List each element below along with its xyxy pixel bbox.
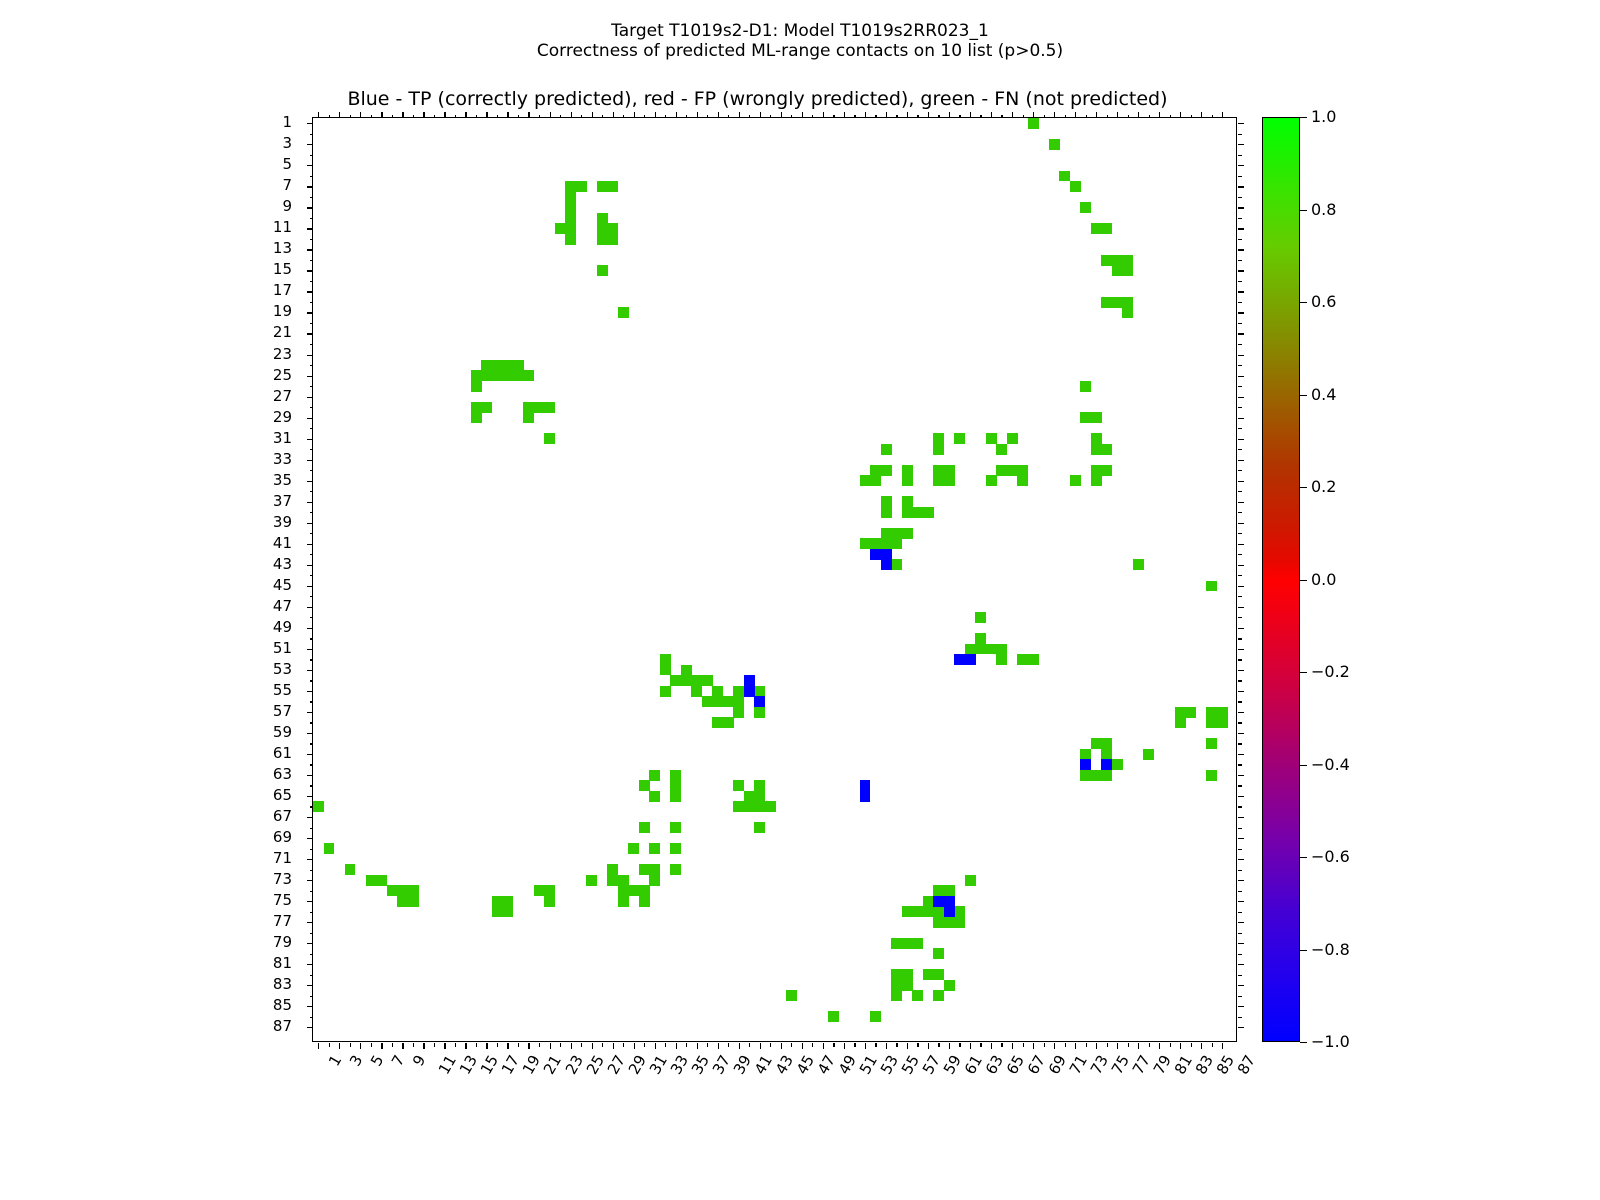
x-tick-top <box>592 112 593 118</box>
x-axis-tick-label: 43 <box>773 1053 796 1077</box>
y-tick <box>310 996 314 997</box>
contact-cell-fn <box>1206 738 1217 749</box>
contact-cell-fn <box>628 885 639 896</box>
contact-cell-fn <box>996 644 1007 655</box>
contact-cell-fn <box>712 696 723 707</box>
y-tick-right <box>1238 502 1244 503</box>
y-tick-right <box>1238 333 1244 334</box>
x-axis-tick-label: 27 <box>605 1053 628 1077</box>
y-tick-right <box>1238 554 1242 555</box>
contact-cell-fn <box>1217 717 1228 728</box>
y-tick <box>310 912 314 913</box>
x-tick-top <box>665 115 666 119</box>
x-tick-top <box>1201 112 1202 118</box>
contact-cell-fn <box>565 223 576 234</box>
y-tick <box>307 291 313 292</box>
x-tick-top <box>760 112 761 118</box>
x-tick-top <box>802 112 803 118</box>
y-tick <box>310 701 314 702</box>
contact-cell-fn <box>975 644 986 655</box>
y-axis-tick-label: 29 <box>273 410 292 425</box>
y-tick-right <box>1238 176 1242 177</box>
contact-cell-fn <box>1175 717 1186 728</box>
contact-cell-fn <box>565 181 576 192</box>
y-tick-right <box>1238 775 1244 776</box>
y-tick-right <box>1238 628 1244 629</box>
y-tick <box>310 218 314 219</box>
contact-cell-fn <box>902 496 913 507</box>
x-tick <box>1159 1043 1160 1049</box>
x-tick-top <box>413 115 414 119</box>
contact-cell-tp <box>1080 759 1091 770</box>
x-tick <box>728 1043 729 1047</box>
contact-cell-fn <box>996 654 1007 665</box>
contact-cell-tp <box>744 686 755 697</box>
contact-cell-fn <box>1206 770 1217 781</box>
y-tick-right <box>1238 460 1244 461</box>
colorbar-tick <box>1300 395 1307 396</box>
x-tick-top <box>339 112 340 118</box>
x-tick <box>476 1043 477 1047</box>
contact-cell-fn <box>618 875 629 886</box>
x-tick-top <box>844 112 845 118</box>
figure-title-line2: Correctness of predicted ML-range contac… <box>0 41 1600 61</box>
y-tick-right <box>1238 838 1244 839</box>
y-tick-right <box>1238 575 1242 576</box>
y-tick-right <box>1238 743 1242 744</box>
contact-cell-fn <box>1080 749 1091 760</box>
contact-cell-fn <box>1112 265 1123 276</box>
y-axis-tick-label: 87 <box>273 1019 292 1034</box>
contact-cell-fn <box>754 707 765 718</box>
x-tick <box>539 1043 540 1047</box>
x-tick <box>928 1043 929 1049</box>
y-tick-right <box>1238 270 1244 271</box>
y-tick-right <box>1238 785 1242 786</box>
contact-cell-fn <box>944 980 955 991</box>
contact-cell-fn <box>408 896 419 907</box>
contact-cell-fn <box>660 665 671 676</box>
y-tick <box>310 680 314 681</box>
contact-cell-fn <box>891 538 902 549</box>
y-tick-right <box>1238 533 1242 534</box>
y-axis-tick-label: 71 <box>273 851 292 866</box>
contact-cell-fn <box>513 360 524 371</box>
colorbar-tick <box>1300 672 1307 673</box>
y-axis-tick-label: 81 <box>273 956 292 971</box>
y-axis-tick-label: 47 <box>273 599 292 614</box>
contact-cell-fn <box>933 917 944 928</box>
contact-cell-fn <box>891 938 902 949</box>
contact-cell-fn <box>523 412 534 423</box>
contact-cell-fn <box>733 696 744 707</box>
contact-cell-fn <box>670 780 681 791</box>
x-tick-top <box>602 115 603 119</box>
contact-cell-fn <box>944 885 955 896</box>
y-tick <box>310 239 314 240</box>
contact-cell-fn <box>492 370 503 381</box>
y-axis-tick-label: 59 <box>273 725 292 740</box>
contact-cell-fn <box>1091 738 1102 749</box>
y-tick-right <box>1238 228 1244 229</box>
y-tick <box>307 376 313 377</box>
y-tick <box>307 333 313 334</box>
y-tick-right <box>1238 365 1242 366</box>
y-tick <box>310 302 314 303</box>
y-tick <box>310 197 314 198</box>
contact-cell-fn <box>1112 297 1123 308</box>
contact-cell-fn <box>565 192 576 203</box>
y-tick <box>310 638 314 639</box>
x-tick-top <box>907 112 908 118</box>
y-tick-right <box>1238 859 1244 860</box>
contact-cell-fn <box>828 1011 839 1022</box>
contact-cell-fn <box>870 465 881 476</box>
x-tick <box>507 1043 508 1049</box>
x-tick <box>571 1043 572 1049</box>
x-tick <box>1180 1043 1181 1049</box>
x-tick <box>528 1043 529 1049</box>
y-tick <box>307 985 313 986</box>
y-tick-right <box>1238 523 1244 524</box>
contact-cell-fn <box>1112 255 1123 266</box>
y-tick <box>307 144 313 145</box>
contact-cell-fn <box>1091 223 1102 234</box>
x-tick <box>1012 1043 1013 1049</box>
contact-cell-fn <box>544 896 555 907</box>
y-tick-right <box>1238 933 1242 934</box>
contact-cell-fn <box>534 402 545 413</box>
x-tick-top <box>875 115 876 119</box>
x-tick-top <box>360 112 361 118</box>
contact-cell-fn <box>723 696 734 707</box>
y-tick-right <box>1238 470 1242 471</box>
contact-cell-fn <box>933 444 944 455</box>
contact-cell-fn <box>986 433 997 444</box>
y-tick <box>310 260 314 261</box>
colorbar-tick <box>1300 1042 1307 1043</box>
contact-cell-fn <box>607 864 618 875</box>
contact-cell-fn <box>881 538 892 549</box>
y-tick-right <box>1238 302 1242 303</box>
colorbar-tick-label: 0.8 <box>1311 202 1336 218</box>
x-tick-top <box>749 115 750 119</box>
contact-cell-fn <box>586 875 597 886</box>
x-tick <box>686 1043 687 1047</box>
x-tick-top <box>623 115 624 119</box>
x-tick-top <box>791 115 792 119</box>
y-tick <box>307 817 313 818</box>
y-tick <box>310 533 314 534</box>
x-tick-top <box>1138 112 1139 118</box>
contact-cell-fn <box>1091 433 1102 444</box>
contact-cell-fn <box>1028 118 1039 129</box>
contact-cell-tp <box>944 896 955 907</box>
contact-cell-fn <box>870 475 881 486</box>
x-tick-top <box>1107 115 1108 119</box>
x-tick-top <box>1149 115 1150 119</box>
y-tick <box>307 123 313 124</box>
x-axis-tick-label: 45 <box>794 1053 817 1077</box>
y-tick <box>307 397 313 398</box>
x-tick <box>381 1043 382 1049</box>
x-tick <box>497 1043 498 1047</box>
contact-cell-fn <box>397 885 408 896</box>
x-axis-tick-label: 61 <box>962 1053 985 1077</box>
contact-cell-fn <box>544 433 555 444</box>
contact-cell-fn <box>681 675 692 686</box>
y-tick <box>310 659 314 660</box>
x-axis-tick-label: 19 <box>521 1053 544 1077</box>
x-tick <box>991 1043 992 1049</box>
contact-cell-fn <box>1112 759 1123 770</box>
x-axis-tick-label: 55 <box>899 1053 922 1077</box>
contact-cell-fn <box>944 917 955 928</box>
y-tick <box>310 449 314 450</box>
y-axis-tick-label: 19 <box>273 304 292 319</box>
x-tick <box>781 1043 782 1049</box>
contact-cell-fn <box>670 822 681 833</box>
x-axis-tick-label: 23 <box>563 1053 586 1077</box>
y-tick-right <box>1238 197 1242 198</box>
contact-cell-fn <box>628 843 639 854</box>
y-tick-right <box>1238 481 1244 482</box>
y-axis-tick-label: 85 <box>273 998 292 1013</box>
contact-cell-fn <box>649 770 660 781</box>
contact-cell-fn <box>502 360 513 371</box>
contact-cell-fn <box>649 843 660 854</box>
y-tick <box>307 922 313 923</box>
contact-cell-tp <box>744 675 755 686</box>
y-tick-right <box>1238 712 1244 713</box>
x-tick <box>465 1043 466 1049</box>
y-tick-right <box>1238 144 1244 145</box>
contact-cell-fn <box>912 906 923 917</box>
x-tick-top <box>1012 112 1013 118</box>
contact-map-figure: Target T1019s2-D1: Model T1019s2RR023_1 … <box>0 0 1600 1200</box>
y-tick <box>307 1027 313 1028</box>
contact-cell-fn <box>860 475 871 486</box>
y-axis-tick-label: 7 <box>282 178 292 193</box>
contact-cell-fn <box>544 885 555 896</box>
contact-cell-fn <box>660 686 671 697</box>
contact-cell-fn <box>481 370 492 381</box>
x-tick-top <box>938 115 939 119</box>
contact-cell-fn <box>912 507 923 518</box>
x-tick-top <box>896 115 897 119</box>
y-axis-tick-label: 25 <box>273 368 292 383</box>
contact-cell-fn <box>639 780 650 791</box>
y-tick-right <box>1238 817 1244 818</box>
contact-cell-fn <box>754 686 765 697</box>
x-tick-top <box>1159 112 1160 118</box>
x-tick <box>402 1043 403 1049</box>
y-tick <box>310 975 314 976</box>
contact-cell-fn <box>618 307 629 318</box>
x-tick <box>854 1043 855 1047</box>
x-tick-top <box>949 112 950 118</box>
x-tick-top <box>381 112 382 118</box>
y-tick-right <box>1238 323 1242 324</box>
contact-cell-fn <box>649 875 660 886</box>
y-tick <box>310 554 314 555</box>
y-tick-right <box>1238 964 1244 965</box>
contact-cell-fn <box>670 675 681 686</box>
x-tick-top <box>486 112 487 118</box>
x-tick <box>360 1043 361 1049</box>
contact-cell-fn <box>912 938 923 949</box>
figure-title-line1: Target T1019s2-D1: Model T1019s2RR023_1 <box>0 21 1600 41</box>
x-tick-top <box>1222 112 1223 118</box>
contact-cell-fn <box>733 801 744 812</box>
contact-cell-tp <box>1101 759 1112 770</box>
x-axis-tick-label: 13 <box>458 1053 481 1077</box>
y-axis-tick-label: 3 <box>282 136 292 151</box>
y-tick <box>310 596 314 597</box>
contact-cell-fn <box>1070 181 1081 192</box>
y-tick <box>310 134 314 135</box>
y-tick <box>310 281 314 282</box>
y-tick <box>307 439 313 440</box>
y-tick <box>307 859 313 860</box>
y-tick <box>310 617 314 618</box>
contact-cell-fn <box>471 370 482 381</box>
x-tick <box>812 1043 813 1047</box>
y-axis-tick-label: 1 <box>282 115 292 130</box>
colorbar-tick-label: −0.4 <box>1311 757 1350 773</box>
y-tick-right <box>1238 544 1244 545</box>
x-tick <box>1149 1043 1150 1047</box>
x-tick-top <box>781 112 782 118</box>
x-tick <box>350 1043 351 1047</box>
contact-cell-fn <box>881 528 892 539</box>
y-tick <box>310 828 314 829</box>
y-tick-right <box>1238 912 1242 913</box>
x-axis-tick-label: 49 <box>836 1053 859 1077</box>
y-tick <box>310 323 314 324</box>
contact-cell-fn <box>902 980 913 991</box>
x-tick <box>339 1043 340 1049</box>
x-tick-top <box>917 115 918 119</box>
y-tick-right <box>1238 764 1242 765</box>
x-tick <box>949 1043 950 1049</box>
x-tick-top <box>928 112 929 118</box>
contact-cell-fn <box>607 223 618 234</box>
y-tick-right <box>1238 397 1244 398</box>
y-tick <box>307 355 313 356</box>
x-tick-top <box>329 115 330 119</box>
contact-cell-fn <box>387 885 398 896</box>
contact-cell-fn <box>1101 255 1112 266</box>
x-tick <box>518 1043 519 1047</box>
x-tick-top <box>1117 112 1118 118</box>
x-axis-tick-label: 17 <box>500 1053 523 1077</box>
y-tick <box>307 628 313 629</box>
contact-cell-fn <box>544 402 555 413</box>
y-tick <box>307 901 313 902</box>
contact-cell-fn <box>492 896 503 907</box>
y-tick-right <box>1238 659 1242 660</box>
contact-cell-fn <box>996 465 1007 476</box>
x-tick-top <box>1044 115 1045 119</box>
contact-cell-fn <box>670 864 681 875</box>
x-axis-tick-label: 1 <box>327 1053 345 1069</box>
contact-cell-fn <box>502 896 513 907</box>
contact-cell-fn <box>786 990 797 1001</box>
x-tick <box>1044 1043 1045 1047</box>
contact-map-plot-area[interactable] <box>312 117 1237 1042</box>
x-axis-tick-label: 83 <box>1194 1053 1217 1077</box>
x-tick <box>760 1043 761 1049</box>
colorbar-tick <box>1300 117 1307 118</box>
x-tick-top <box>613 112 614 118</box>
contact-cell-fn <box>954 917 965 928</box>
y-tick-right <box>1238 586 1244 587</box>
contact-cell-fn <box>1122 297 1133 308</box>
x-axis-tick-label: 51 <box>857 1053 880 1077</box>
x-tick <box>1023 1043 1024 1047</box>
x-tick-top <box>1128 115 1129 119</box>
x-tick <box>1222 1043 1223 1049</box>
contact-cell-fn <box>607 234 618 245</box>
y-tick <box>310 470 314 471</box>
y-axis-tick-label: 55 <box>273 683 292 698</box>
contact-cell-fn <box>1007 433 1018 444</box>
contact-cell-fn <box>754 801 765 812</box>
y-tick <box>307 838 313 839</box>
y-tick <box>310 933 314 934</box>
y-tick <box>307 418 313 419</box>
x-tick <box>1117 1043 1118 1049</box>
contact-cell-fn <box>376 875 387 886</box>
contact-cell-fn <box>881 444 892 455</box>
x-tick-top <box>1075 112 1076 118</box>
y-tick <box>307 712 313 713</box>
y-tick-right <box>1238 649 1244 650</box>
x-tick <box>1065 1043 1066 1047</box>
contact-cell-fn <box>923 906 934 917</box>
x-tick <box>434 1043 435 1047</box>
y-tick-right <box>1238 870 1242 871</box>
x-tick-top <box>718 112 719 118</box>
y-tick <box>307 186 313 187</box>
y-tick <box>307 691 313 692</box>
x-tick-top <box>465 112 466 118</box>
y-tick-right <box>1238 418 1244 419</box>
y-tick-right <box>1238 186 1244 187</box>
contact-cell-fn <box>1101 223 1112 234</box>
contact-cell-fn <box>933 885 944 896</box>
x-axis-tick-label: 29 <box>626 1053 649 1077</box>
contact-cell-fn <box>1206 707 1217 718</box>
colorbar-tick-label: −1.0 <box>1311 1034 1350 1050</box>
contact-cell-fn <box>1080 770 1091 781</box>
contact-cell-fn <box>923 969 934 980</box>
x-tick-top <box>518 115 519 119</box>
contact-cell-fn <box>733 686 744 697</box>
x-tick-top <box>1065 115 1066 119</box>
contact-cell-fn <box>523 402 534 413</box>
x-tick-top <box>823 112 824 118</box>
x-tick-top <box>980 115 981 119</box>
y-tick-right <box>1238 828 1242 829</box>
y-tick <box>307 775 313 776</box>
y-tick-right <box>1238 281 1242 282</box>
x-axis-tick-label: 3 <box>348 1053 366 1069</box>
x-tick-top <box>371 115 372 119</box>
x-tick <box>676 1043 677 1049</box>
contact-cell-fn <box>1059 171 1070 182</box>
